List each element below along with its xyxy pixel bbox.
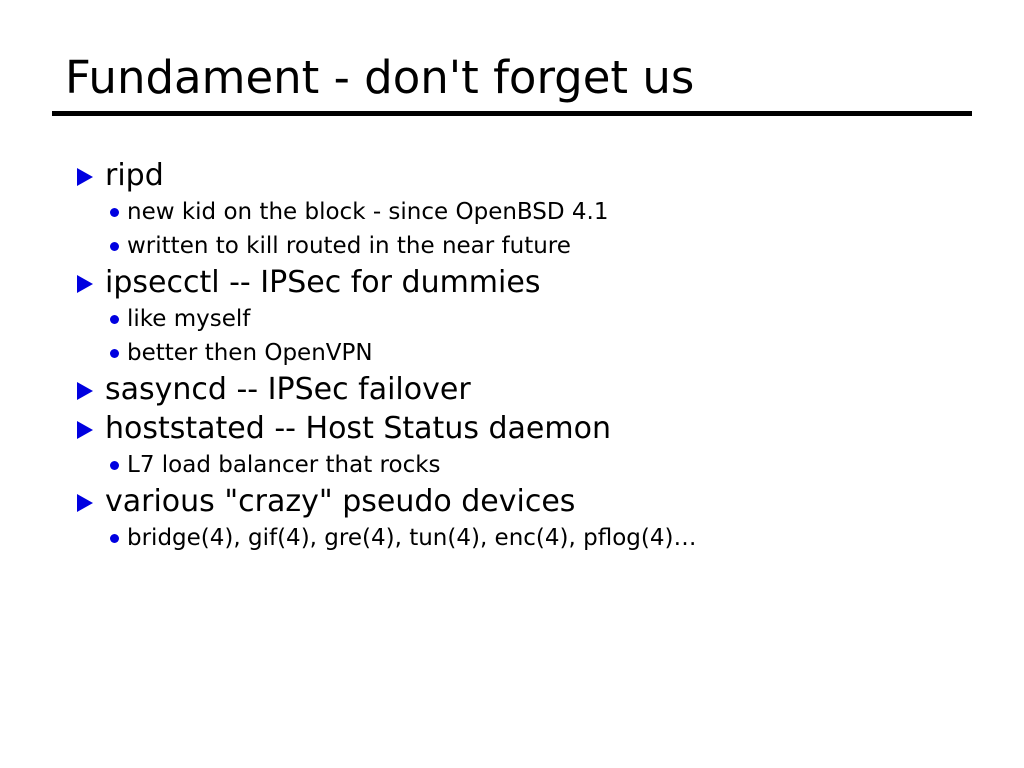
outline-item-level2: better then OpenVPN bbox=[77, 336, 977, 370]
outline-item-level2: like myself bbox=[77, 302, 977, 336]
triangle-marker-icon bbox=[77, 421, 93, 439]
triangle-marker-icon bbox=[77, 275, 93, 293]
outline-item-label: various "crazy" pseudo devices bbox=[105, 484, 575, 519]
outline-subitem-label: better then OpenVPN bbox=[127, 340, 373, 366]
outline-item-level1: sasyncd -- IPSec failover bbox=[77, 370, 977, 409]
outline-subitem-label: written to kill routed in the near futur… bbox=[127, 233, 571, 259]
triangle-marker-icon bbox=[77, 494, 93, 512]
outline-item-level1: ipsecctl -- IPSec for dummies bbox=[77, 263, 977, 302]
triangle-marker-icon bbox=[77, 382, 93, 400]
page-title: Fundament - don't forget us bbox=[52, 50, 972, 106]
slide-title-block: Fundament - don't forget us bbox=[52, 50, 972, 116]
outline-item-level1: ripd bbox=[77, 156, 977, 195]
outline-item-label: hoststated -- Host Status daemon bbox=[105, 411, 611, 446]
outline-item-level2: written to kill routed in the near futur… bbox=[77, 229, 977, 263]
slide-body-outline: ripd new kid on the block - since OpenBS… bbox=[77, 156, 977, 555]
dot-marker-icon bbox=[110, 242, 119, 251]
outline-item-level1: hoststated -- Host Status daemon bbox=[77, 409, 977, 448]
title-divider bbox=[52, 111, 972, 116]
outline-subitem-label: L7 load balancer that rocks bbox=[127, 452, 441, 478]
presentation-slide: Fundament - don't forget us ripd new kid… bbox=[0, 0, 1024, 768]
dot-marker-icon bbox=[110, 349, 119, 358]
outline-item-level2: bridge(4), gif(4), gre(4), tun(4), enc(4… bbox=[77, 521, 977, 555]
outline-item-label: ipsecctl -- IPSec for dummies bbox=[105, 265, 540, 300]
outline-item-level1: various "crazy" pseudo devices bbox=[77, 482, 977, 521]
triangle-marker-icon bbox=[77, 168, 93, 186]
outline-item-label: sasyncd -- IPSec failover bbox=[105, 372, 471, 407]
outline-subitem-label: bridge(4), gif(4), gre(4), tun(4), enc(4… bbox=[127, 525, 696, 551]
outline-item-level2: new kid on the block - since OpenBSD 4.1 bbox=[77, 195, 977, 229]
dot-marker-icon bbox=[110, 461, 119, 470]
outline-item-level2: L7 load balancer that rocks bbox=[77, 448, 977, 482]
dot-marker-icon bbox=[110, 208, 119, 217]
outline-subitem-label: like myself bbox=[127, 306, 250, 332]
outline-item-label: ripd bbox=[105, 158, 164, 193]
dot-marker-icon bbox=[110, 534, 119, 543]
dot-marker-icon bbox=[110, 315, 119, 324]
outline-subitem-label: new kid on the block - since OpenBSD 4.1 bbox=[127, 199, 609, 225]
